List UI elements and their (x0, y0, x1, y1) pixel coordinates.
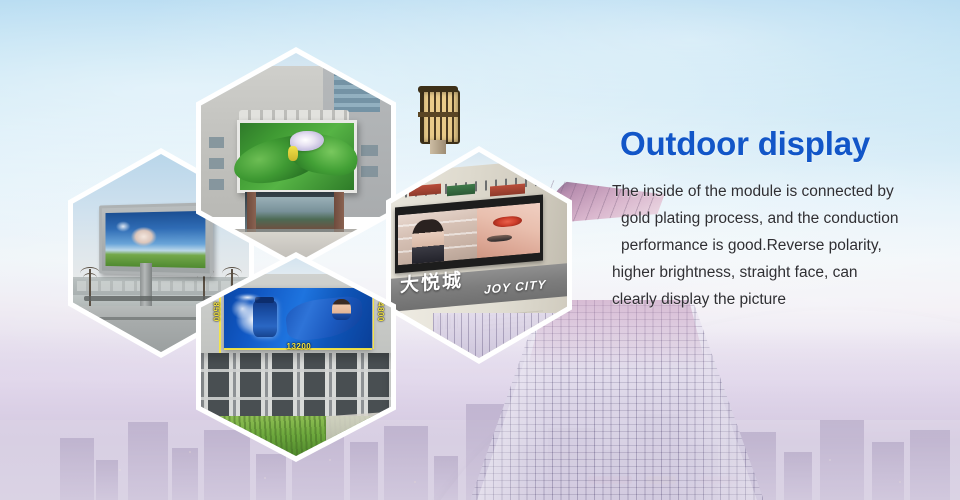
mall-sign-chinese: 大悦城 (400, 271, 463, 296)
body-text: The inside of the module is connected by… (612, 178, 952, 313)
body-line: gold plating process, and the conduction (612, 205, 952, 232)
led-facade-screen (237, 120, 357, 193)
body-line: The inside of the module is connected by (612, 178, 952, 205)
rooftop-crown-tower (418, 90, 458, 152)
hex-image-clip: 大悦城 JOY CITY (391, 152, 567, 358)
dimension-label-width: 13200 (287, 342, 312, 351)
photo-joy-city-mall: 大悦城 JOY CITY (391, 152, 567, 358)
led-storefront-screen (224, 288, 372, 349)
photo-leaf-building (201, 53, 391, 263)
hex-image-clip (201, 53, 391, 263)
hex-image-clip: 8500 13200 4800 (201, 258, 391, 456)
text-panel: Outdoor display The inside of the module… (612, 126, 952, 313)
dimension-label-height-right: 4800 (376, 302, 385, 322)
body-line: higher brightness, straight face, can (612, 259, 952, 286)
led-billboard-screen (99, 202, 213, 277)
body-line: clearly display the picture (612, 286, 952, 313)
led-rooftop-screen (395, 195, 543, 274)
page-title: Outdoor display (620, 126, 952, 162)
photo-blue-water-ad: 8500 13200 4800 (201, 258, 391, 456)
dimension-label-height-left: 8500 (211, 302, 220, 322)
banner-stage: 大悦城 JOY CITY (0, 0, 960, 500)
body-line: performance is good.Reverse polarity, (612, 232, 952, 259)
